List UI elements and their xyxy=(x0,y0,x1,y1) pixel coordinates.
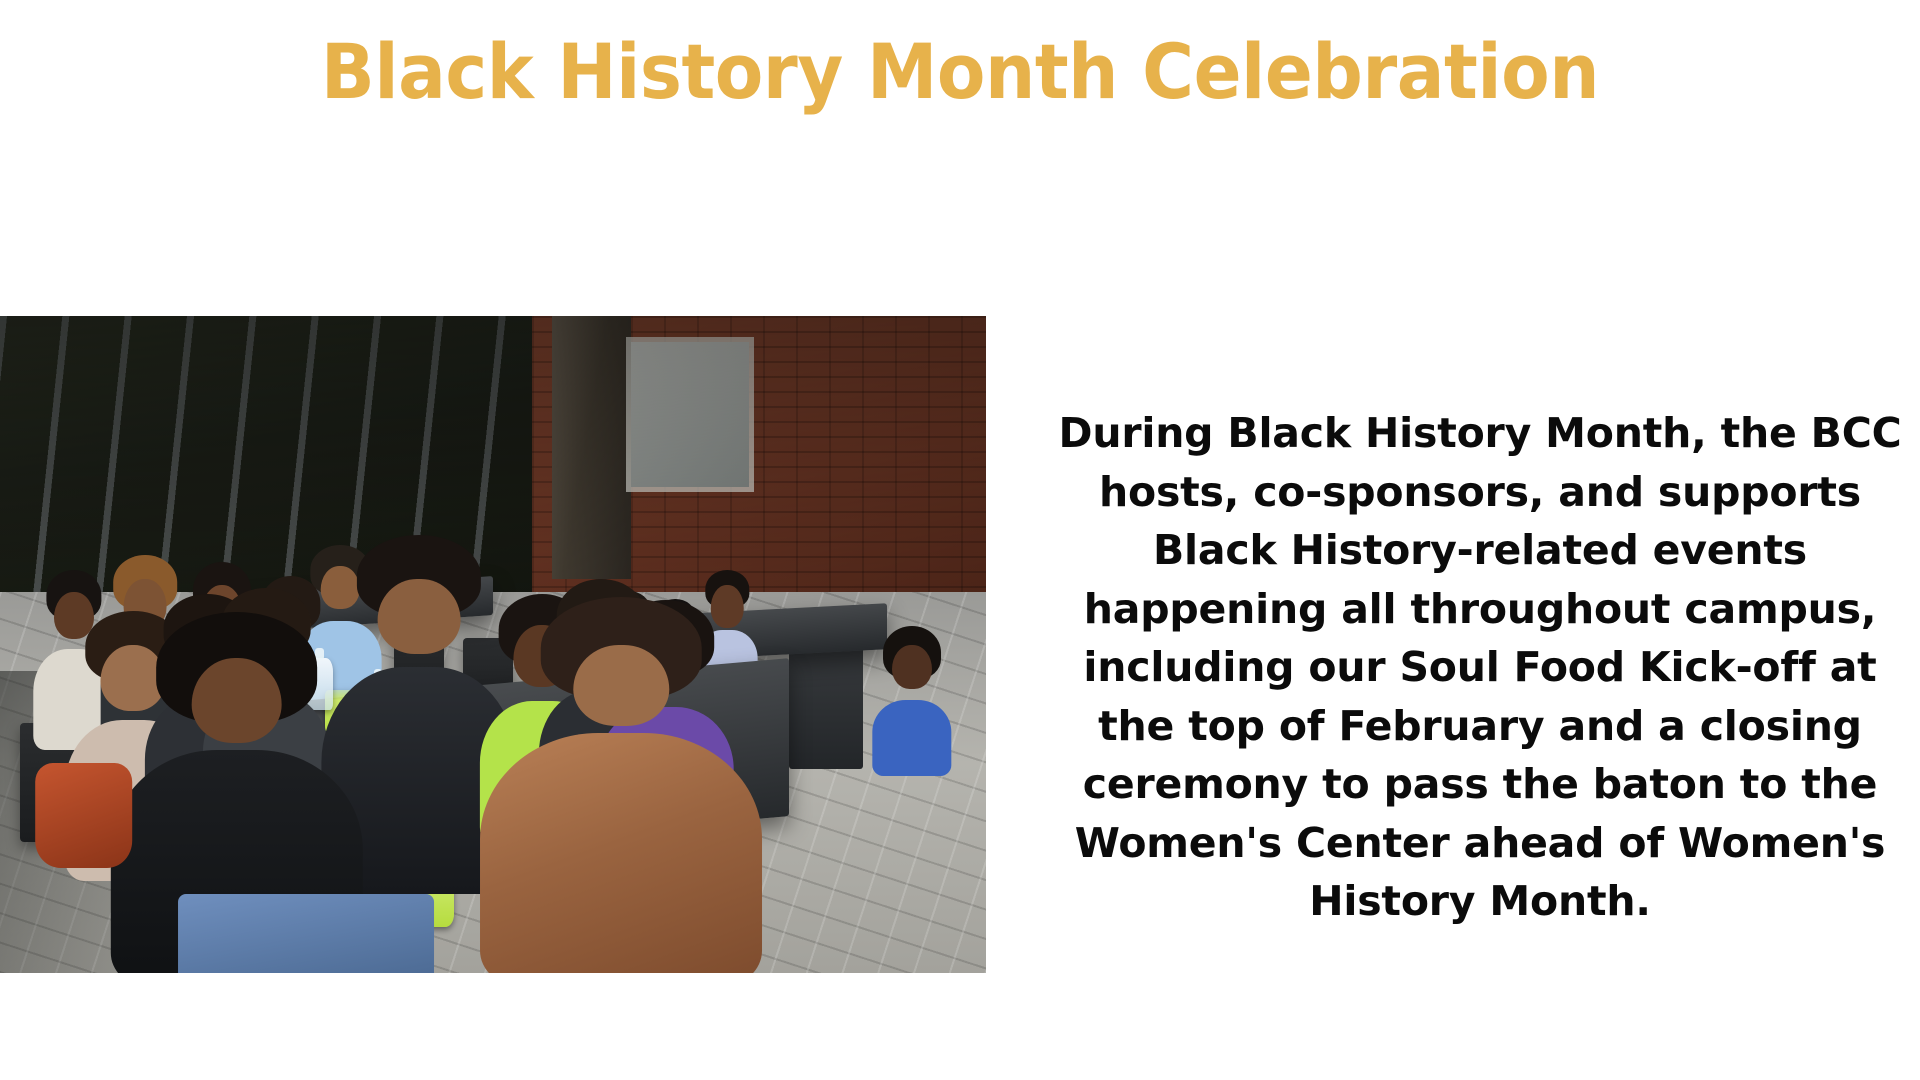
photo-scene xyxy=(0,316,986,973)
photo-person xyxy=(345,579,493,894)
photo-backpack xyxy=(39,763,128,868)
slide-canvas: Black History Month Celebration xyxy=(0,0,1920,1080)
photo-person xyxy=(197,894,414,973)
body-paragraph: During Black History Month, the BCC host… xyxy=(1055,404,1905,931)
photo-person xyxy=(878,645,947,776)
event-photo xyxy=(0,316,986,973)
photo-person xyxy=(513,645,730,974)
page-title: Black History Month Celebration xyxy=(67,34,1853,110)
